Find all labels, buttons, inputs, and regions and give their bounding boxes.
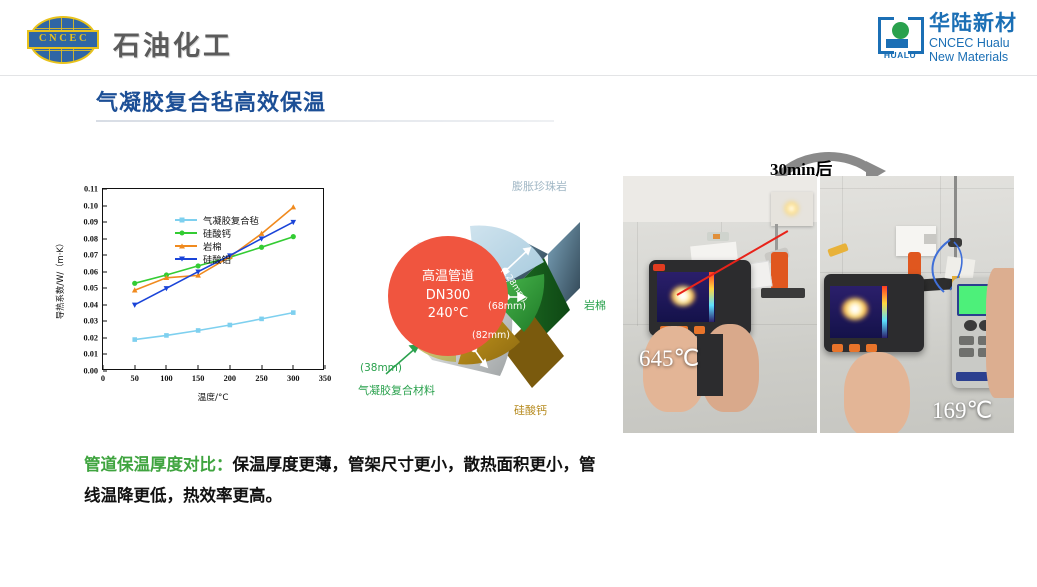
header-divider (0, 75, 1037, 76)
cncec-letters: CNCEC (37, 34, 89, 45)
bottom-note-highlight: 管道保温厚度对比： (84, 455, 233, 474)
legend-label: 硅酸铝 (203, 252, 231, 266)
chart-series-line (135, 313, 294, 340)
chart-x-tick-label: 200 (224, 374, 236, 383)
chart-y-axis-label: 导热系数/W/（m·K） (54, 239, 66, 320)
chart-y-tick-label: 0.11 (84, 185, 98, 194)
photo-before: 645℃ (623, 176, 817, 433)
legend-marker-icon (179, 256, 185, 261)
thermal-photo-pair: 645℃ (623, 176, 1015, 433)
chart-y-tick-label: 0.10 (83, 201, 98, 210)
chart-legend-item[interactable]: 气凝胶复合毡 (175, 213, 259, 226)
dim-calcium: (82mm) (472, 330, 510, 341)
photo-after: 169℃ (820, 176, 1014, 433)
hualu-name-cn: 华陆新材 (929, 13, 1017, 34)
title-underline (96, 120, 554, 122)
chart-y-tick-label: 0.06 (83, 267, 98, 276)
chart-data-point (291, 310, 296, 315)
temp-label-left: 645℃ (639, 346, 699, 372)
chart-data-point (132, 303, 138, 308)
chart-data-point (228, 323, 233, 328)
chart-legend-item[interactable]: 岩棉 (175, 239, 259, 252)
brand-title-cn: 石油化工 (113, 24, 233, 63)
hualu-name-en-line1: CNCEC Hualu (929, 37, 1017, 50)
slide-canvas: CNCEC 石油化工 HUALU 华陆新材 CNCEC Hualu New Ma… (0, 0, 1037, 587)
chart-plot-area: 0.000.010.020.030.040.050.060.070.080.09… (102, 188, 324, 370)
pipe-core-line1: 高温管道 (422, 268, 474, 287)
chart-y-tick-label: 0.03 (83, 317, 98, 326)
chart-x-axis-label: 温度/°C (197, 390, 228, 403)
hualu-logo: HUALU 华陆新材 CNCEC Hualu New Materials (878, 14, 1017, 62)
legend-label: 岩棉 (203, 239, 222, 253)
chart-y-tick-label: 0.00 (83, 367, 98, 376)
hualu-mark-word: HUALU (878, 50, 922, 60)
chart-y-tick-label: 0.09 (83, 218, 98, 227)
legend-label: 硅酸钙 (203, 226, 231, 240)
dim-rockwool: (68mm) (488, 301, 526, 312)
legend-swatch-icon (175, 219, 197, 221)
chart-y-tick-label: 0.05 (83, 284, 98, 293)
label-aerogel: 气凝胶复合材料 (358, 382, 435, 398)
chart-data-point (132, 281, 137, 286)
chart-x-tick-label: 50 (131, 374, 139, 383)
dim-aerogel: (38mm) (360, 362, 402, 374)
chart-legend: 气凝胶复合毡硅酸钙岩棉硅酸铝 (175, 213, 259, 265)
chart-x-tick-label: 250 (255, 374, 267, 383)
chart-data-point (132, 337, 137, 342)
temp-label-right: 169℃ (932, 398, 992, 424)
legend-marker-icon (180, 230, 185, 235)
pipe-core-line2: DN300 (426, 287, 471, 306)
label-rockwool: 岩棉 (584, 297, 606, 313)
chart-y-tick-label: 0.02 (83, 333, 98, 342)
chart-x-tick-label: 150 (192, 374, 204, 383)
slide-header: CNCEC 石油化工 HUALU 华陆新材 CNCEC Hualu New Ma… (0, 0, 1037, 76)
chart-data-point (290, 204, 296, 209)
chart-x-tick-label: 0 (101, 374, 105, 383)
chart-legend-item[interactable]: 硅酸铝 (175, 252, 259, 265)
cncec-logo: CNCEC (27, 17, 99, 63)
chart-x-tick-label: 100 (160, 374, 172, 383)
legend-label: 气凝胶复合毡 (203, 213, 259, 227)
hualu-name-en-line2: New Materials (929, 51, 1017, 64)
thermal-conductivity-chart: 导热系数/W/（m·K） 温度/°C 0.000.010.020.030.040… (62, 178, 352, 410)
chart-data-point (259, 245, 264, 250)
legend-swatch-icon (175, 245, 197, 247)
page-title: 气凝胶复合毡高效保温 (96, 85, 326, 117)
legend-swatch-icon (175, 232, 197, 234)
cncec-wordmark: CNCEC (27, 30, 99, 49)
pipe-core-line3: 240°C (428, 305, 468, 324)
label-pearlite: 膨胀珍珠岩 (512, 178, 567, 194)
legend-marker-icon (180, 217, 185, 222)
chart-data-point (259, 317, 264, 322)
bottom-summary-note: 管道保温厚度对比：保温厚度更薄，管架尺寸更小，散热面积更小，管线温降更低，热效率… (84, 450, 604, 511)
chart-y-tick-label: 0.07 (83, 251, 98, 260)
chart-y-tick-label: 0.01 (83, 350, 98, 359)
chart-data-point (164, 333, 169, 338)
chart-y-tick-label: 0.04 (83, 300, 98, 309)
label-calcium: 硅酸钙 (514, 402, 547, 418)
chart-data-point (196, 328, 201, 333)
chart-legend-item[interactable]: 硅酸钙 (175, 226, 259, 239)
chart-x-tick-label: 350 (319, 374, 331, 383)
legend-swatch-icon (175, 258, 197, 260)
chart-y-tick-label: 0.08 (83, 234, 98, 243)
hualu-mark-icon: HUALU (878, 15, 922, 61)
chart-x-tick-label: 300 (287, 374, 299, 383)
chart-data-point (291, 234, 296, 239)
legend-marker-icon (179, 243, 185, 248)
pipe-insulation-diagram: 高温管道 DN300 240°C (128mm) (68mm) (82mm) (… (352, 170, 620, 420)
